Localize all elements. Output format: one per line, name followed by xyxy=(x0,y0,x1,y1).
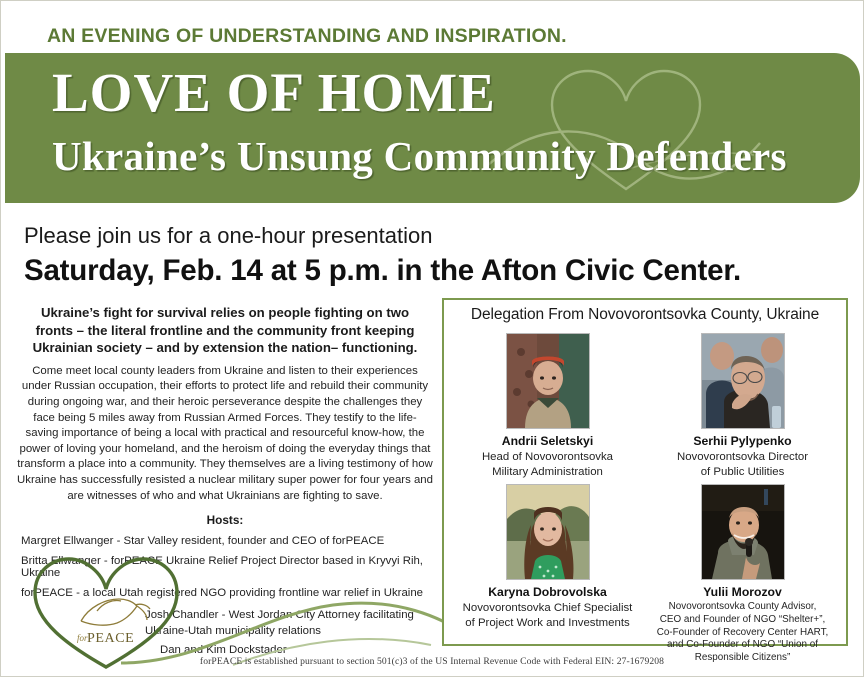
delegate-role-line: and Co-Founder of NGO “Union of xyxy=(645,639,840,652)
delegate-role-line: Novovorontsovka County Advisor, xyxy=(645,601,840,614)
delegate-card: Yulii Morozov Novovorontsovka County Adv… xyxy=(645,479,840,664)
body-paragraph: Come meet local county leaders from Ukra… xyxy=(17,364,433,505)
flyer-page: AN EVENING OF UNDERSTANDING AND INSPIRAT… xyxy=(0,0,864,677)
portrait-yulii-morozov xyxy=(701,484,785,580)
delegate-name: Karyna Dobrovolska xyxy=(450,585,645,600)
title-banner: LOVE OF HOME Ukraine’s Unsung Community … xyxy=(5,53,860,203)
delegate-role-line: of Public Utilities xyxy=(645,465,840,479)
delegate-role: Novovorontsovka Director of Public Utili… xyxy=(645,450,840,479)
portrait-andrii-seletskyi xyxy=(506,333,590,429)
delegate-name: Andrii Seletskyi xyxy=(450,434,645,449)
delegate-role-line: Head of Novovorontsovka xyxy=(450,450,645,464)
delegate-role: Head of Novovorontsovka Military Adminis… xyxy=(450,450,645,479)
portrait-karyna-dobrovolska xyxy=(506,484,590,580)
delegate-card: Serhii Pylypenko Novovorontsovka Directo… xyxy=(645,328,840,479)
event-date-line: Saturday, Feb. 14 at 5 p.m. in the Afton… xyxy=(24,254,741,288)
delegate-role-line: of Project Work and Investments xyxy=(450,616,645,630)
footer-disclaimer: forPEACE is established pursuant to sect… xyxy=(1,656,863,667)
banner-subtitle: Ukraine’s Unsung Community Defenders xyxy=(52,136,787,177)
delegate-role-line: Military Administration xyxy=(450,465,645,479)
banner-title: LOVE OF HOME xyxy=(52,65,496,120)
delegate-role-line: Novovorontsovka Director xyxy=(645,450,840,464)
delegation-grid: Andrii Seletskyi Head of Novovorontsovka… xyxy=(444,324,846,664)
delegate-role: Novovorontsovka Chief Specialist of Proj… xyxy=(450,601,645,630)
delegate-role-line: Co-Founder of Recovery Center HART, xyxy=(645,627,840,640)
delegate-name: Yulii Morozov xyxy=(645,585,840,600)
delegate-card: Karyna Dobrovolska Novovorontsovka Chief… xyxy=(450,479,645,664)
join-line: Please join us for a one-hour presentati… xyxy=(24,223,432,249)
eyebrow-headline: AN EVENING OF UNDERSTANDING AND INSPIRAT… xyxy=(47,25,567,48)
host-line: Margret Ellwanger - Star Valley resident… xyxy=(21,535,435,547)
hosts-heading: Hosts: xyxy=(15,513,435,527)
delegation-title: Delegation From Novovorontsovka County, … xyxy=(444,306,846,324)
delegate-card: Andrii Seletskyi Head of Novovorontsovka… xyxy=(450,328,645,479)
portrait-serhii-pylypenko xyxy=(701,333,785,429)
delegate-name: Serhii Pylypenko xyxy=(645,434,840,449)
delegate-role: Novovorontsovka County Advisor, CEO and … xyxy=(645,601,840,664)
lede-paragraph: Ukraine’s fight for survival relies on p… xyxy=(21,304,429,357)
delegate-role-line: CEO and Founder of NGO “Shelter+”, xyxy=(645,614,840,627)
delegation-panel: Delegation From Novovorontsovka County, … xyxy=(442,298,848,646)
delegate-role-line: Novovorontsovka Chief Specialist xyxy=(450,601,645,615)
